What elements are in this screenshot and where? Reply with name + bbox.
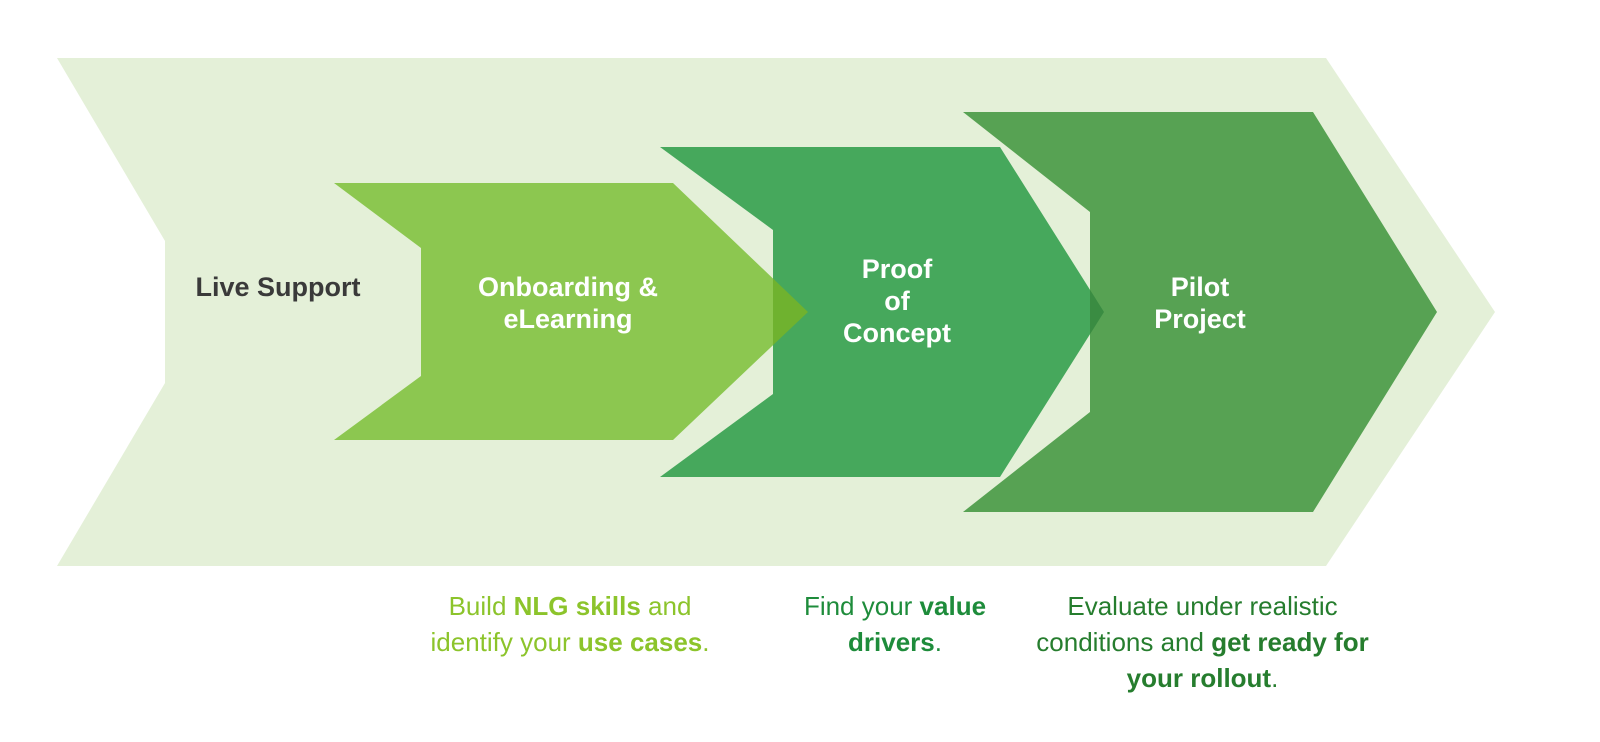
caption-pilot-project: Evaluate under realistic conditions and … bbox=[1030, 589, 1375, 697]
caption-text: . bbox=[935, 627, 942, 657]
caption-text: . bbox=[702, 627, 709, 657]
caption-onboarding: Build NLG skills and identify your use c… bbox=[405, 589, 735, 661]
caption-emphasis: use cases bbox=[578, 627, 702, 657]
diagram-canvas: Live Support Onboarding & eLearning Proo… bbox=[0, 0, 1600, 742]
caption-proof-of-concept: Find your value drivers. bbox=[770, 589, 1020, 661]
caption-text: . bbox=[1271, 663, 1278, 693]
caption-text: Build bbox=[449, 591, 514, 621]
caption-emphasis: NLG skills bbox=[514, 591, 641, 621]
caption-text: Find your bbox=[804, 591, 920, 621]
